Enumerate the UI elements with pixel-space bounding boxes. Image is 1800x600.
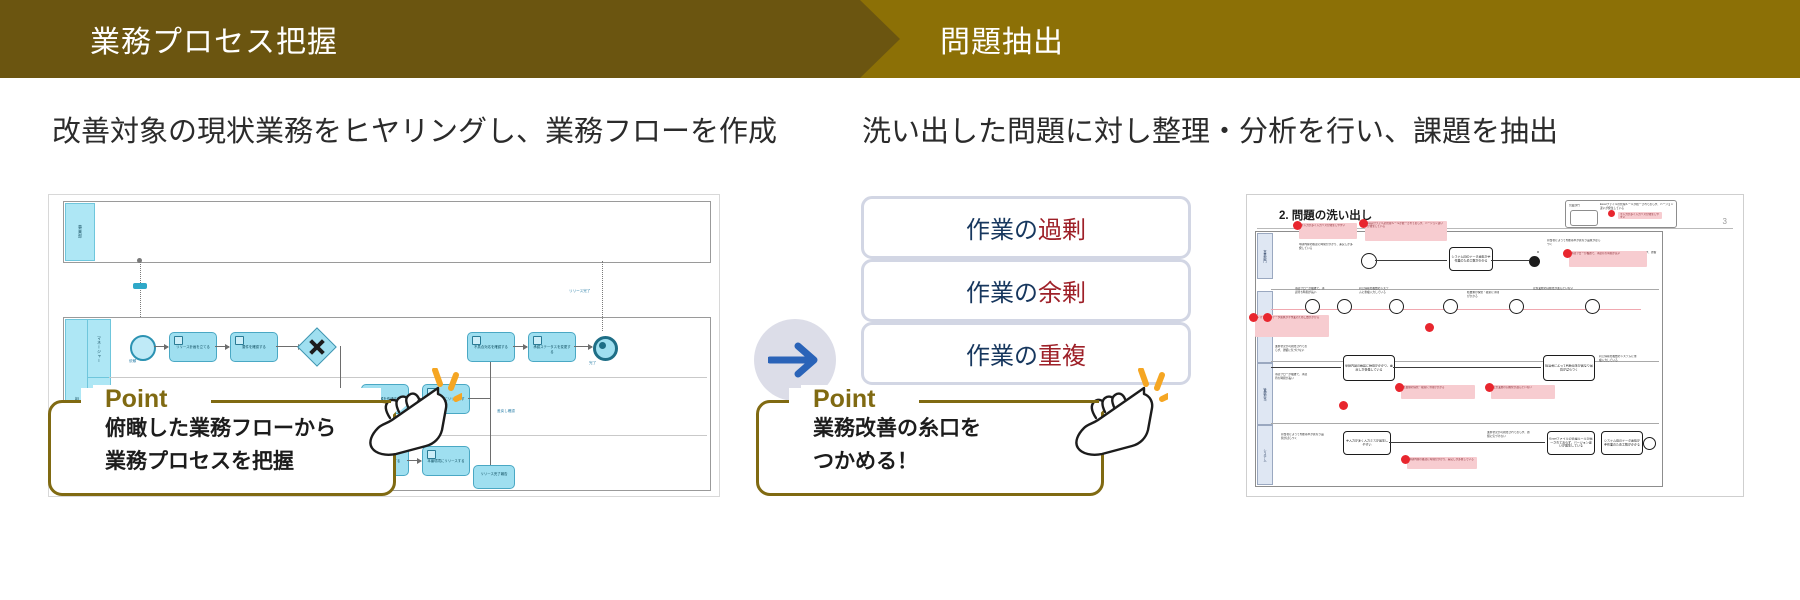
screenshot-task-label-4: Excelファイルの管理ルールが統一されておらず、バージョン違いが発生している (1549, 438, 1593, 449)
flow-task-7: 承認ステータスを変更する (528, 332, 576, 362)
problem-box-0[interactable]: 作業の過剰 (861, 196, 1191, 259)
left-column-subtitle: 改善対象の現状業務をヒヤリングし、業務フローを作成 (52, 108, 777, 150)
screenshot-note-3: 紙書類の保管・検索に手間がかかる (1401, 385, 1475, 399)
screenshot-lane-divider-2 (1271, 423, 1659, 424)
screenshot-task-label-5: システム間のデータ連携が手作業のため工数がかかる (1603, 439, 1641, 446)
screenshot-lane-3: システム (1257, 425, 1273, 485)
screenshot-marker-6 (1485, 383, 1494, 392)
point-callout-left: Point 俯瞰した業務フローから 業務プロセスを把握 (48, 400, 396, 496)
flow-task-icon-7 (533, 336, 542, 345)
flow-lane-label-1: マネージャー (88, 320, 110, 378)
flow-task-label-1: 要件を確認する (234, 345, 274, 350)
right-column-subtitle: 洗い出した問題に対し整理・分析を行い、課題を抽出 (862, 108, 1558, 150)
screenshot-note-1-text: Excelファイルの管理ルールが統一されておらず、バージョン違いが発生している (1367, 222, 1445, 240)
screenshot-lane-label-0: 営業部門 (1258, 234, 1272, 278)
flow-task-icon-6 (472, 336, 481, 345)
flow-task-6: 不具合対応を確認する (467, 332, 515, 362)
flow-join-line-1 (468, 398, 490, 399)
flow-message-connector (140, 261, 141, 317)
screenshot-task-2: 担当者によって判断基準が異なり品質がばらつく (1543, 355, 1595, 381)
flow-lane-header-0: 事業部 (65, 203, 95, 261)
screenshot-note-0: 手入力が多く入力ミスが発生しやすい (1299, 223, 1357, 239)
screenshot-legend-note-text: 手入力が多く入力ミスが発生しやすい (1620, 213, 1660, 218)
screenshot-note-6: 承認フローが複雑で、承認待ち時間が長い (1569, 251, 1647, 267)
flow-task-icon-1 (235, 336, 244, 345)
screenshot-doc-stack (1537, 251, 1539, 253)
flow-message-chip (133, 283, 147, 289)
banner-step-1: 業務プロセス把握 (0, 0, 912, 78)
screenshot-lane-label-3: システム (1258, 426, 1272, 484)
pointing-hand-icon (352, 368, 462, 463)
screenshot-gateway-6 (1305, 299, 1320, 314)
screenshot-annot-9: 同じ情報を複数のシステムに重複入力している (1599, 355, 1639, 371)
point-rule-left (211, 400, 391, 403)
screenshot-flow-1 (1491, 260, 1529, 261)
right-arrow-icon (768, 341, 822, 379)
pointing-hand-cursor-left (352, 368, 462, 468)
screenshot-annot-5: 紙書類の保管・検索に手間がかかる (1467, 291, 1501, 305)
problem-box-1-prefix: 作業の (966, 280, 1038, 307)
flow-task-label-7: 承認ステータスを変更する (532, 345, 572, 354)
flow-start-event (130, 335, 156, 361)
flow-arrow-9 (574, 346, 592, 347)
banner-step-2: 問題抽出 (860, 0, 1800, 78)
screenshot-legend-caption: Excelファイルの管理ルールが統一されておらず、バージョン違いが発生している (1600, 203, 1674, 210)
screenshot-annot-0: 申請内容の確認に時間がかかり、差戻しが多発している (1299, 243, 1353, 271)
flow-edge-label-1: 差戻し確認 (497, 409, 515, 414)
point-callout-right: Point 業務改善の糸口を つかめる！ (756, 400, 1104, 496)
screenshot-task-label-3: 手入力が多く入力ミスが発生しやすい (1345, 439, 1389, 446)
screenshot-annot-11: 進捗状況が可視化されておらず、滞留に気づけない (1487, 431, 1531, 449)
flow-lane-group-top (63, 201, 711, 263)
screenshot-gateway-4 (1509, 299, 1524, 314)
flow-arrow-1 (154, 346, 168, 347)
screenshot-marker-5 (1395, 383, 1404, 392)
screenshot-annot-3: 承認フローが複雑で、承認待ち時間が長い (1295, 287, 1325, 297)
screenshot-marker-3 (1263, 313, 1272, 322)
screenshot-annot-10: 担当者によって判断基準が異なり品質がばらつく (1281, 433, 1325, 453)
problem-box-0-text: 作業の過剰 (966, 210, 1086, 245)
problem-box-1-text: 作業の余剰 (966, 273, 1086, 308)
screenshot-gateway-0 (1361, 253, 1377, 269)
flow-branch-line-4 (490, 398, 491, 465)
flow-connector-dot (137, 258, 142, 263)
screenshot-task-3: 手入力が多く入力ミスが発生しやすい (1343, 431, 1391, 455)
point-body-left: 俯瞰した業務フローから 業務プロセスを把握 (105, 413, 336, 478)
screenshot-lane-2: 管理担当 (1257, 363, 1273, 425)
screenshot-note-4: 定型業務の自動化が進んでいない (1491, 385, 1555, 399)
flow-end-event-label: 完了 (589, 361, 596, 366)
screenshot-task-0: システム間のデータ連携が手作業のため工数がかかる (1449, 247, 1493, 271)
problem-box-1-emphasis: 余剰 (1038, 280, 1086, 307)
screenshot-task-label-2: 担当者によって判断基準が異なり品質がばらつく (1545, 364, 1593, 371)
flow-start-event-label: 依頼 (129, 359, 136, 364)
screenshot-note-5-text: 申請内容の確認に時間がかかり、差戻しが多発している (1409, 458, 1475, 468)
screenshot-page-number: 3 (1723, 217, 1727, 226)
problem-box-0-prefix: 作業の (966, 217, 1038, 244)
screenshot-note-5: 申請内容の確認に時間がかかり、差戻しが多発している (1407, 457, 1477, 469)
screenshot-task-label-0: システム間のデータ連携が手作業のため工数がかかる (1451, 255, 1491, 262)
screenshot-flow-0 (1375, 260, 1447, 261)
flow-task-1: 要件を確認する (230, 332, 278, 362)
screenshot-event-0 (1529, 256, 1540, 267)
screenshot-marker-8 (1401, 455, 1410, 464)
screenshot-note-0-text: 手入力が多く入力ミスが発生しやすい (1301, 224, 1355, 238)
banner-step-1-label: 業務プロセス把握 (90, 17, 338, 61)
pointing-hand-cursor-right (1058, 368, 1168, 468)
screenshot-legend-note: 手入力が多く入力ミスが発生しやすい (1618, 212, 1662, 219)
screenshot-title: 2. 問題の洗い出し (1279, 207, 1372, 223)
flow-task-label-8: リリース完了報告 (477, 472, 511, 477)
flow-task-0: リリース計画を立てる (169, 332, 217, 362)
screenshot-marker-legend (1608, 210, 1615, 217)
screenshot-note-6-text: 承認フローが複雑で、承認待ち時間が長い (1571, 252, 1645, 266)
screenshot-flow-3 (1393, 367, 1541, 368)
problem-box-0-emphasis: 過剰 (1038, 217, 1086, 244)
flow-arrow-8 (513, 346, 527, 347)
flow-lane-label-0: 事業部 (66, 204, 94, 260)
screenshot-task-4: Excelファイルの管理ルールが統一されておらず、バージョン違いが発生している (1547, 431, 1595, 455)
screenshot-legend-label: 営業部門 (1569, 204, 1591, 208)
screenshot-legend-card: 営業部門 手入力が多く入力ミスが発生しやすい Excelファイルの管理ルールが統… (1565, 200, 1677, 228)
screenshot-marker-1 (1359, 219, 1368, 228)
screenshot-annot-6: 定型業務の自動化が進んでいない (1533, 287, 1577, 303)
screenshot-note-4-text: 定型業務の自動化が進んでいない (1493, 386, 1553, 398)
pointing-hand-icon (1058, 368, 1168, 463)
flow-arrow-2 (215, 346, 229, 347)
screenshot-annot-7: 進捗状況が可視化されておらず、滞留に気づけない (1275, 345, 1309, 359)
flow-task-label-0: リリース計画を立てる (173, 345, 213, 350)
flow-message-connector-2 (602, 261, 603, 331)
flow-end-event (593, 336, 618, 361)
flow-lane-header-1: マネージャー (87, 319, 111, 379)
screenshot-gateway-5 (1585, 299, 1600, 314)
screenshot-note-3-text: 紙書類の保管・検索に手間がかかる (1403, 386, 1473, 398)
flow-task-icon-0 (174, 336, 183, 345)
screenshot-gateway-2 (1389, 299, 1404, 314)
problem-box-2-prefix: 作業の (966, 343, 1038, 370)
problem-box-2-emphasis: 重複 (1038, 343, 1086, 370)
screenshot-lane-label-2: 管理担当 (1258, 364, 1272, 424)
screenshot-gateway-1 (1337, 299, 1352, 314)
screenshot-flow-2 (1271, 367, 1341, 368)
screenshot-gateway-3 (1443, 299, 1458, 314)
problem-extraction-screenshot: 2. 問題の洗い出し 3 営業部門 手入力が多く入力ミスが発生しやすい Exce… (1246, 194, 1744, 497)
point-label-left: Point (93, 385, 180, 414)
screenshot-task-1: 申請内容の確認に時間がかかり、差戻しが多発している (1343, 355, 1395, 381)
screenshot-lane-divider-0 (1271, 289, 1659, 290)
header-banner: 業務プロセス把握 問題抽出 (0, 0, 1800, 78)
point-body-right: 業務改善の糸口を つかめる！ (813, 413, 981, 478)
screenshot-marker-7 (1339, 401, 1348, 410)
point-label-right: Point (801, 385, 888, 414)
screenshot-annot-8: 承認フローが複雑で、承認待ち時間が長い (1275, 373, 1309, 387)
flow-task-8: リリース完了報告 (473, 465, 515, 489)
problem-box-2-text: 作業の重複 (966, 336, 1086, 371)
screenshot-annot-4: 同じ情報を複数のシステムに重複入力している (1359, 287, 1389, 297)
problem-box-1[interactable]: 作業の余剰 (861, 259, 1191, 322)
flow-task-label-6: 不具合対応を確認する (471, 345, 511, 350)
flow-message-label-2: リリース完了 (569, 289, 590, 294)
screenshot-note-1: Excelファイルの管理ルールが統一されておらず、バージョン違いが発生している (1365, 221, 1447, 241)
screenshot-marker-9 (1563, 249, 1572, 258)
screenshot-legend-sample (1570, 210, 1598, 226)
banner-step-2-label: 問題抽出 (940, 17, 1064, 61)
screenshot-task-label-1: 申請内容の確認に時間がかかり、差戻しが多発している (1345, 364, 1393, 371)
screenshot-end-event (1643, 437, 1656, 450)
screenshot-lane-0: 営業部門 (1257, 233, 1273, 279)
screenshot-marker-0 (1293, 221, 1302, 230)
screenshot-task-5: システム間のデータ連携が手作業のため工数がかかる (1601, 431, 1643, 455)
screenshot-marker-2 (1249, 313, 1258, 322)
point-rule-right (919, 400, 1099, 403)
screenshot-marker-4 (1425, 323, 1434, 332)
